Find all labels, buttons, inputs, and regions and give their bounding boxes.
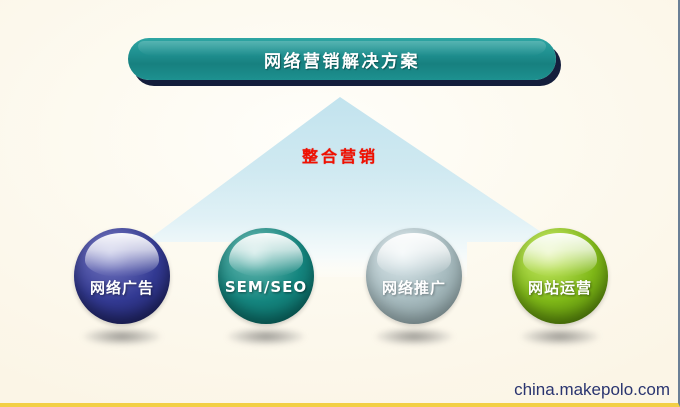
arrow-polygon: [145, 97, 556, 277]
title-banner: 网络营销解决方案: [128, 38, 556, 80]
sphere-website-operation[interactable]: 网站运营: [505, 228, 615, 358]
sphere-highlight-icon: [85, 233, 160, 277]
sphere-highlight-icon: [229, 233, 304, 277]
sphere-body[interactable]: SEM/SEO: [218, 228, 314, 324]
sphere-shadow: [227, 328, 305, 345]
sphere-body[interactable]: 网站运营: [512, 228, 608, 324]
sphere-highlight-icon: [523, 233, 598, 277]
sphere-shadow: [521, 328, 599, 345]
sphere-shadow: [375, 328, 453, 345]
sphere-body[interactable]: 网络广告: [74, 228, 170, 324]
sphere-online-promotion[interactable]: 网络推广: [359, 228, 469, 358]
slide-canvas: 整合营销 网络营销解决方案 网络广告 SEM/SEO 网络推广 网站运营: [0, 0, 680, 407]
page-title: 网络营销解决方案: [264, 47, 420, 72]
sphere-shadow: [83, 328, 161, 345]
sphere-label: SEM/SEO: [225, 278, 307, 296]
sphere-sem-seo[interactable]: SEM/SEO: [211, 228, 321, 358]
sphere-label: 网络广告: [90, 277, 154, 298]
sphere-body[interactable]: 网络推广: [366, 228, 462, 324]
sphere-label: 网站运营: [528, 277, 592, 298]
watermark: china.makepolo.com: [514, 380, 670, 400]
sphere-highlight-icon: [377, 233, 452, 277]
sphere-online-advertising[interactable]: 网络广告: [67, 228, 177, 358]
sphere-label: 网络推广: [382, 277, 446, 298]
